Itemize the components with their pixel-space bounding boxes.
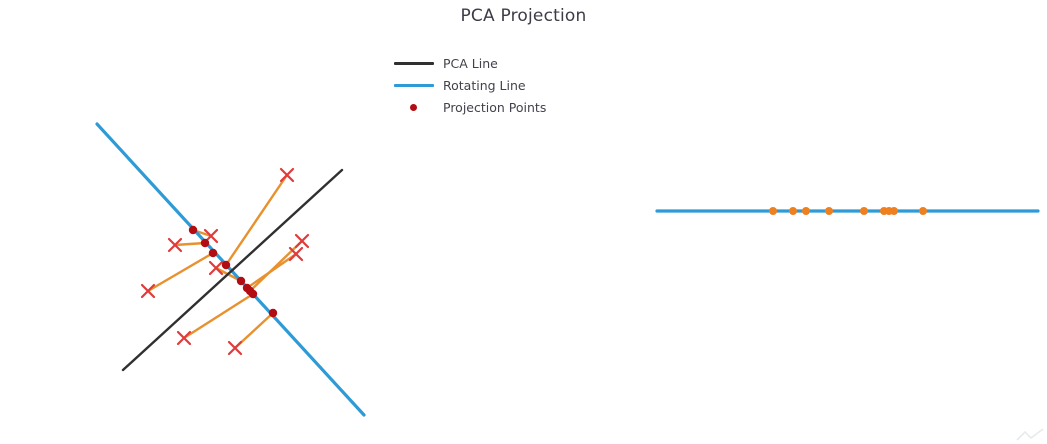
data-marker-x-icon bbox=[290, 248, 302, 260]
projected-point bbox=[825, 207, 833, 215]
pca-line-left bbox=[123, 170, 342, 370]
projected-point bbox=[769, 207, 777, 215]
watermark-icon bbox=[1015, 427, 1045, 443]
rotating-line-swatch-icon bbox=[392, 78, 436, 92]
legend-item-projection-points: Projection Points bbox=[392, 96, 582, 118]
projection-point bbox=[246, 287, 254, 295]
legend-label-projection-points: Projection Points bbox=[436, 100, 546, 115]
page-title: PCA Projection bbox=[0, 6, 1047, 26]
data-marker-x-icon bbox=[229, 342, 241, 354]
data-marker-x-icon bbox=[205, 230, 217, 242]
projection-ray bbox=[184, 294, 253, 338]
projection-point bbox=[269, 309, 277, 317]
projection-ray bbox=[250, 241, 302, 291]
data-marker-x-icon bbox=[210, 262, 222, 274]
legend-item-pca-line: PCA Line bbox=[392, 52, 582, 74]
rotating-line-left bbox=[97, 124, 364, 415]
data-markers-group bbox=[142, 169, 308, 354]
projection-point bbox=[249, 290, 257, 298]
projected-point bbox=[885, 207, 893, 215]
projection-ray bbox=[216, 268, 241, 281]
projection-rays-group bbox=[148, 175, 302, 348]
projection-point bbox=[201, 239, 209, 247]
pca-line bbox=[123, 170, 342, 370]
rotating-line bbox=[97, 124, 364, 415]
projection-point-swatch-icon bbox=[392, 100, 436, 114]
data-marker-x-icon bbox=[178, 332, 190, 344]
projection-ray bbox=[247, 254, 296, 288]
projection-ray bbox=[235, 313, 273, 348]
projected-point bbox=[802, 207, 810, 215]
pca-projection-figure: PCA Projection PCA Line Rotating Line Pr… bbox=[0, 0, 1047, 444]
legend-label-pca-line: PCA Line bbox=[436, 56, 498, 71]
projection-ray bbox=[175, 243, 205, 245]
projected-point bbox=[880, 207, 888, 215]
projection-point bbox=[222, 261, 230, 269]
projection-ray bbox=[226, 175, 287, 265]
pca-line-swatch-icon bbox=[392, 56, 436, 70]
projection-points-group bbox=[189, 226, 277, 317]
data-marker-x-icon bbox=[296, 235, 308, 247]
projection-ray bbox=[193, 230, 211, 236]
legend-item-rotating-line: Rotating Line bbox=[392, 74, 582, 96]
legend: PCA Line Rotating Line Projection Points bbox=[392, 52, 582, 118]
projected-point bbox=[789, 207, 797, 215]
data-marker-x-icon bbox=[142, 285, 154, 297]
projection-point bbox=[189, 226, 197, 234]
data-marker-x-icon bbox=[169, 239, 181, 251]
projection-point bbox=[243, 284, 251, 292]
projection-point bbox=[237, 277, 245, 285]
projected-point bbox=[860, 207, 868, 215]
legend-label-rotating-line: Rotating Line bbox=[436, 78, 526, 93]
projection-point bbox=[209, 249, 217, 257]
projected-points-group bbox=[769, 207, 927, 215]
projected-point bbox=[919, 207, 927, 215]
projected-point bbox=[890, 207, 898, 215]
data-marker-x-icon bbox=[281, 169, 293, 181]
projection-ray bbox=[148, 253, 213, 291]
